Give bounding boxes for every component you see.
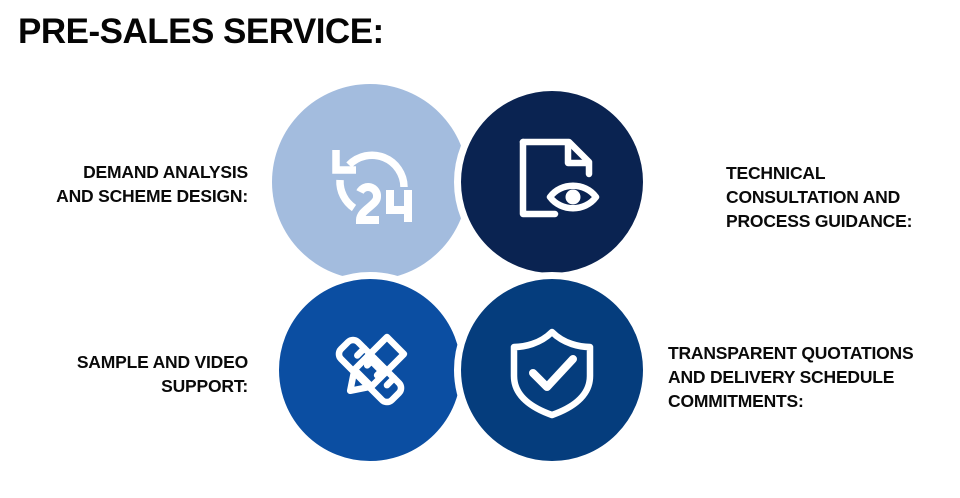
label-transparent-quotations: TRANSPARENT QUOTATIONS AND DELIVERY SCHE… — [668, 341, 960, 413]
shield-check-icon — [502, 322, 602, 422]
label-technical-consultation: TECHNICAL CONSULTATION AND PROCESS GUIDA… — [726, 161, 952, 233]
circle-transparent-quotations[interactable] — [454, 272, 650, 468]
page-title: PRE-SALES SERVICE: — [18, 14, 384, 51]
label-demand-analysis: DEMAND ANALYSIS AND SCHEME DESIGN: — [0, 160, 248, 208]
24-hours-rotate-icon — [322, 132, 422, 232]
label-sample-and-video: SAMPLE AND VIDEO SUPPORT: — [0, 350, 248, 398]
circle-demand-analysis[interactable] — [272, 84, 468, 280]
venn-circle-cluster — [268, 82, 668, 482]
pencil-ruler-icon — [320, 321, 420, 421]
document-eye-icon — [505, 130, 605, 230]
circle-sample-and-video[interactable] — [272, 272, 468, 468]
circle-technical-consultation[interactable] — [454, 84, 650, 280]
